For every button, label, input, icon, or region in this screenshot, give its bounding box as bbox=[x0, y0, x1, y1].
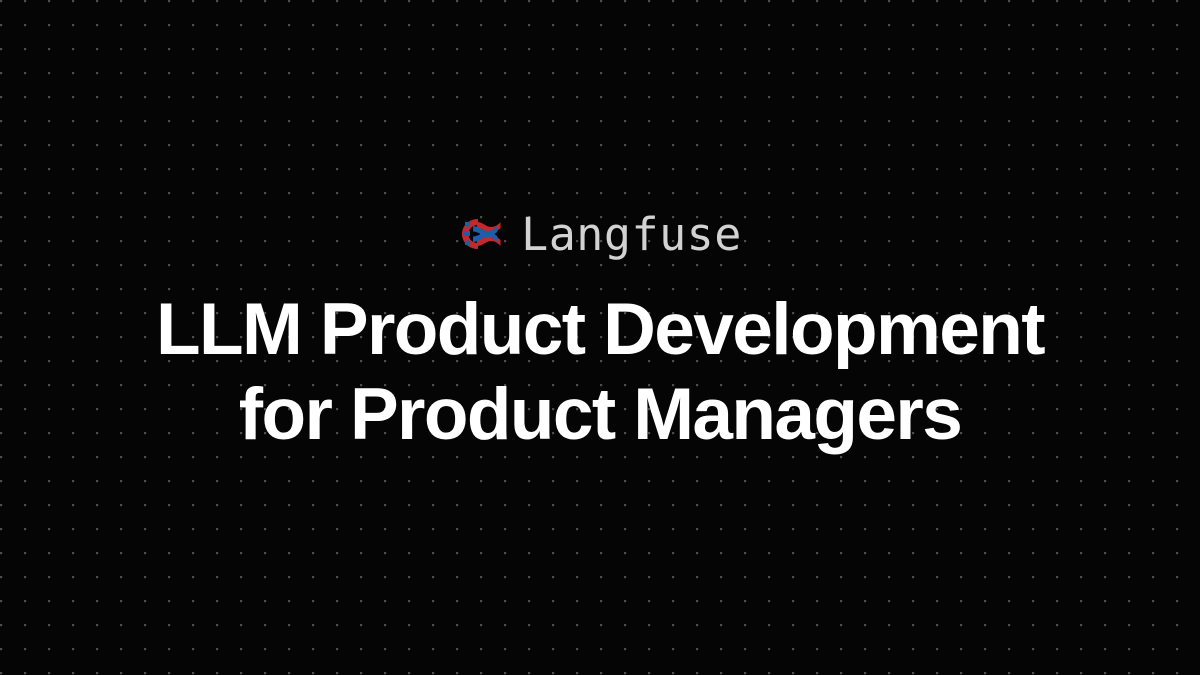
brand-name: Langfuse bbox=[521, 212, 742, 257]
card-content: Langfuse LLM Product Development for Pro… bbox=[0, 212, 1200, 458]
og-card: Langfuse LLM Product Development for Pro… bbox=[0, 0, 1200, 675]
page-title: LLM Product Development for Product Mana… bbox=[156, 287, 1044, 458]
brand-lockup: Langfuse bbox=[458, 212, 742, 257]
langfuse-logo-mark-icon bbox=[458, 215, 504, 253]
